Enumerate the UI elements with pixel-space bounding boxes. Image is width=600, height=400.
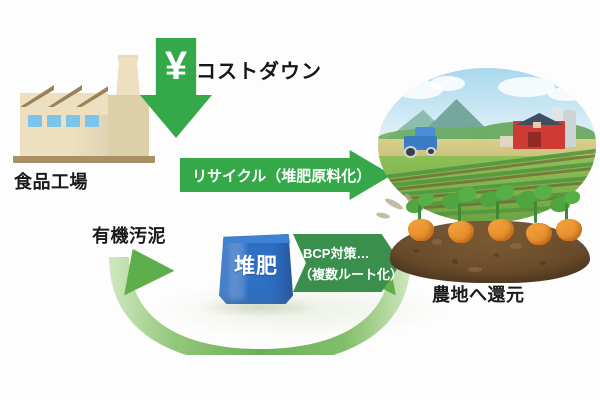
silo-icon bbox=[563, 110, 576, 147]
factory-chimney bbox=[116, 57, 140, 97]
soil-fleck bbox=[414, 249, 419, 253]
factory-caption: 食品工場 bbox=[14, 168, 88, 194]
recycle-arrow: リサイクル（堆肥原料化） bbox=[180, 150, 392, 200]
factory-window bbox=[47, 115, 61, 127]
barn-door bbox=[528, 132, 541, 148]
bag-top-fold bbox=[219, 234, 293, 243]
soil-mound-with-carrots bbox=[390, 195, 590, 290]
factory-sawtooth-roof bbox=[20, 85, 108, 107]
carrot-stem bbox=[458, 203, 461, 223]
farmland-caption: 農地へ還元 bbox=[432, 281, 525, 307]
compost-bag-illustration: 堆肥 bbox=[213, 228, 299, 308]
carrot-root bbox=[526, 223, 552, 245]
cost-down-arrow: ¥ bbox=[140, 38, 212, 138]
cost-down-label: コストダウン bbox=[196, 55, 322, 84]
bcp-label-line1: BCP対策… bbox=[303, 243, 369, 262]
soil-highlight bbox=[432, 239, 442, 245]
carrot-stem bbox=[534, 201, 537, 223]
carrot-root bbox=[488, 219, 514, 241]
carrot-root bbox=[556, 219, 582, 241]
tractor-rear-wheel bbox=[404, 146, 417, 158]
factory-window bbox=[85, 115, 99, 127]
barn-window bbox=[533, 122, 542, 128]
diagram-canvas: 食品工場 ¥ コストダウン リサイクル（堆肥原料化） 有機汚泥 bbox=[0, 0, 600, 400]
factory-window bbox=[28, 115, 42, 127]
soil-highlight bbox=[510, 243, 522, 249]
carrot-root bbox=[448, 221, 474, 243]
carrot-leaf bbox=[418, 193, 434, 206]
carrot-leaf bbox=[458, 187, 476, 202]
tractor-front-wheel bbox=[426, 147, 436, 156]
soil-fleck bbox=[452, 259, 458, 264]
factory-window bbox=[66, 115, 80, 127]
factory-base-strip bbox=[13, 156, 155, 163]
carrot-leaf bbox=[534, 185, 552, 200]
carrot-leaf bbox=[496, 185, 514, 200]
compost-bag-label: 堆肥 bbox=[213, 250, 299, 280]
cloud-icon bbox=[548, 87, 587, 101]
soil-fleck bbox=[494, 253, 499, 257]
carrot-stem bbox=[496, 201, 499, 221]
carrot-root bbox=[408, 219, 434, 241]
soil-fleck bbox=[540, 261, 546, 265]
bcp-label-line2: （複数ルート化） bbox=[299, 264, 403, 283]
bcp-measures-arrow: BCP対策… （複数ルート化） bbox=[293, 234, 401, 292]
recycle-arrow-label: リサイクル（堆肥原料化） bbox=[192, 150, 371, 200]
soil-highlight bbox=[468, 267, 482, 272]
food-factory-illustration bbox=[8, 55, 158, 165]
